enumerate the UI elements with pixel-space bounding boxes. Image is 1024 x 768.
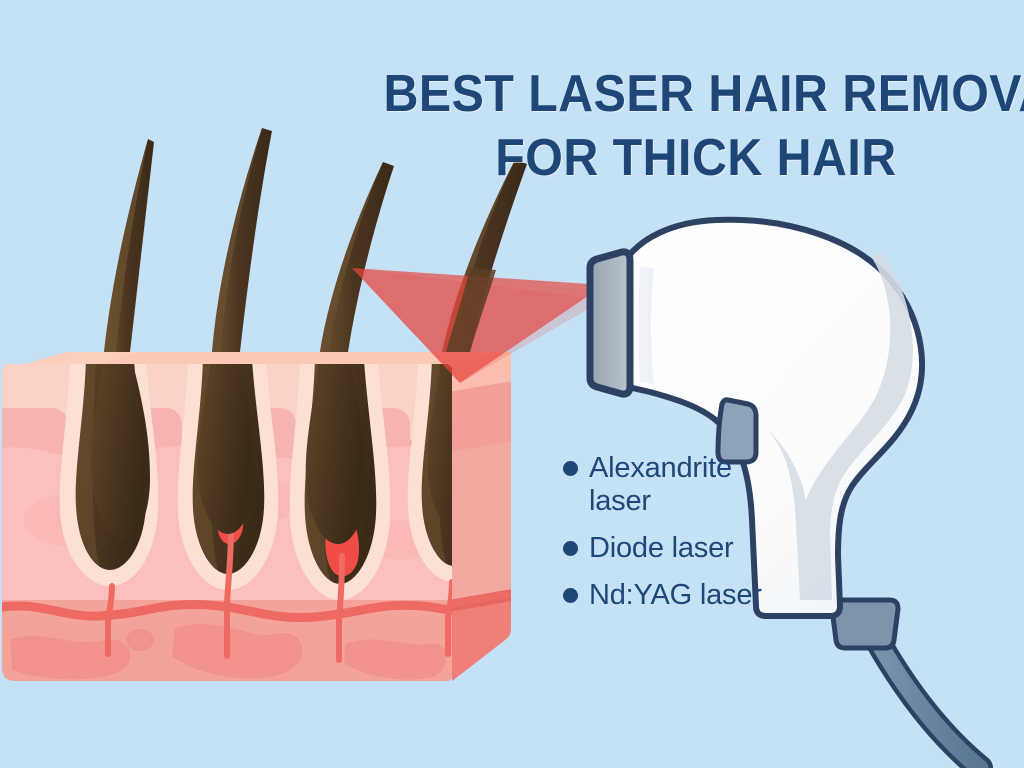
emitter-nozzle[interactable] [590,252,630,394]
bullet-dot-icon [563,588,578,603]
list-item-label: Alexandrite laser [589,452,779,518]
list-item-label: Diode laser [589,532,734,565]
skin-front-face [0,352,500,700]
list-item[interactable]: Alexandrite laser [563,452,813,518]
bullet-dot-icon [563,541,578,556]
skin-block [0,350,518,700]
illustration-artboard [0,0,1024,768]
list-item[interactable]: Diode laser [563,532,813,565]
bullet-dot-icon [563,461,578,476]
infographic-canvas: BEST LASER HAIR REMOVAL FOR THICK HAIR A… [0,0,1024,768]
list-item-label: Nd:YAG laser [589,579,762,612]
list-item[interactable]: Nd:YAG laser [563,579,813,612]
laser-type-list: Alexandrite laser Diode laser Nd:YAG las… [563,452,813,626]
